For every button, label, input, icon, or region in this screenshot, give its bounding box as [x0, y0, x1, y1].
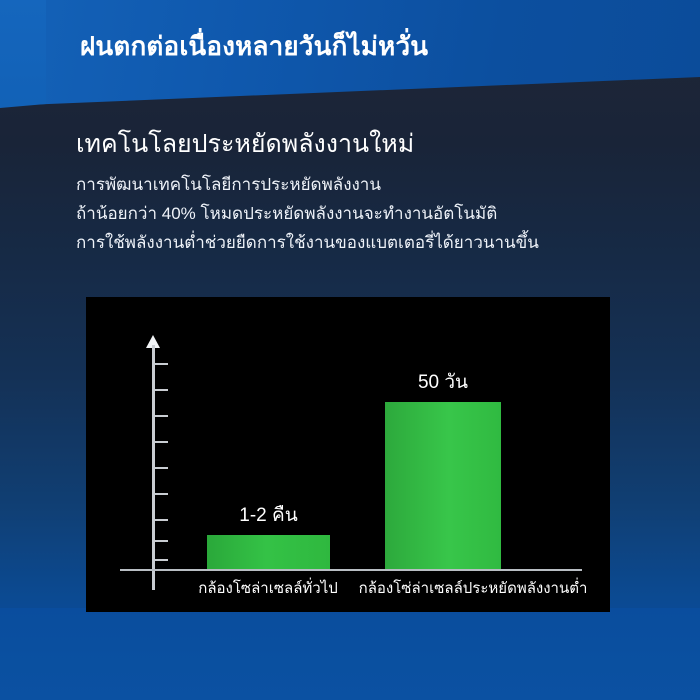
x-axis-category-label-1: กล้องโซล่าเซลล์ทั่วไป: [182, 576, 354, 600]
body-line-1: การพัฒนาเทคโนโลยีการประหยัดพลังงาน: [76, 170, 636, 199]
y-axis-tick: [155, 441, 168, 443]
y-axis-tick: [155, 415, 168, 417]
bar-value-label-2: 50 วัน: [376, 367, 510, 397]
body-line-3: การใช้พลังงานต่ำช่วยยืดการใช้งานของแบตเต…: [76, 228, 636, 257]
y-axis-tick: [155, 559, 168, 561]
bar-value-label-1: 1-2 คืน: [207, 500, 330, 530]
y-axis-tick: [155, 363, 168, 365]
bar-category-1: [207, 535, 330, 569]
body-text-block: เทคโนโลยประหยัดพลังงานใหม่ การพัฒนาเทคโน…: [76, 128, 636, 257]
slide-canvas: ฝนตกต่อเนื่องหลายวันก็ไม่หวั่น เทคโนโลยป…: [0, 0, 700, 700]
body-heading: เทคโนโลยประหยัดพลังงานใหม่: [76, 128, 636, 162]
body-line-2: ถ้าน้อยกว่า 40% โหมดประหยัดพลังงานจะทำงา…: [76, 199, 636, 228]
y-axis-tick: [155, 389, 168, 391]
header-title: ฝนตกต่อเนื่องหลายวันก็ไม่หวั่น: [80, 26, 428, 67]
y-axis-tick: [155, 519, 168, 521]
bottom-blue-band: [0, 608, 700, 700]
y-axis-tick: [155, 467, 168, 469]
bar-chart-panel: 1-2 คืน 50 วัน กล้องโซล่าเซลล์ทั่วไป กล้…: [86, 297, 610, 612]
x-axis-line: [120, 569, 582, 571]
bar-category-2: [385, 402, 501, 569]
x-axis-category-label-2: กล้องโซ่ล่าเซลล์ประหยัดพลังงานต่ำ: [330, 576, 610, 600]
y-axis-tick: [155, 493, 168, 495]
y-axis-tick: [155, 540, 168, 542]
